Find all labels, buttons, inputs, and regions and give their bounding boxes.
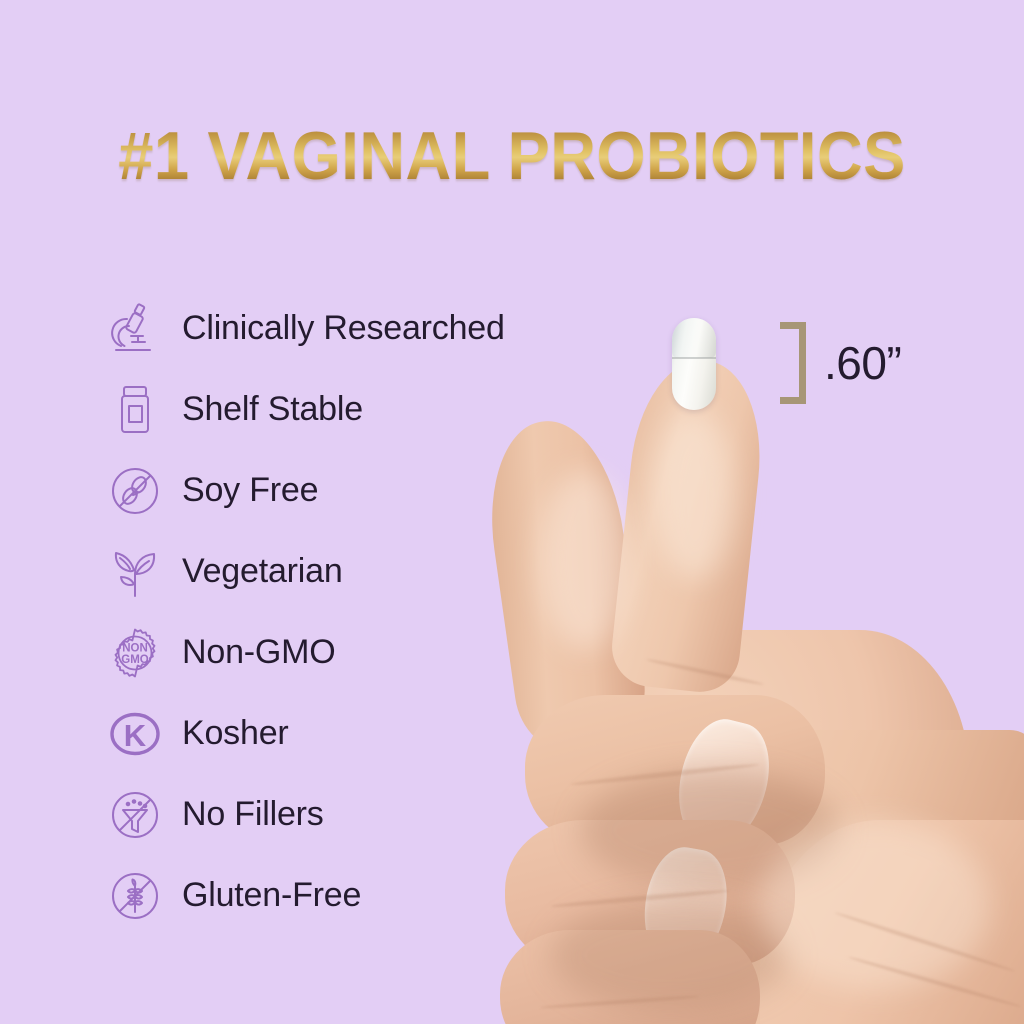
non-gmo-seal-icon: NON GMO: [104, 622, 166, 684]
no-wheat-icon: [104, 865, 166, 927]
capsule-seam: [672, 357, 716, 359]
feature-row-clinically-researched: Clinically Researched: [104, 288, 574, 369]
feature-label: Kosher: [182, 714, 289, 753]
kosher-k-icon: K: [104, 703, 166, 765]
index-highlight: [655, 410, 735, 580]
capsule-size-callout: .60”: [780, 322, 901, 404]
supplement-bottle-icon: [104, 379, 166, 441]
leaf-sprig-icon: [104, 541, 166, 603]
feature-label: Clinically Researched: [182, 309, 505, 348]
page-title: #1 VAGINAL PROBIOTICS: [36, 122, 988, 190]
no-funnel-icon: [104, 784, 166, 846]
feature-row-no-fillers: No Fillers: [104, 774, 574, 855]
non-gmo-line1: NON: [122, 642, 148, 654]
measurement-value: .60”: [824, 340, 901, 386]
feature-label: Non-GMO: [182, 633, 336, 672]
palm-shadow-2: [550, 900, 790, 1010]
product-feature-graphic: #1 VAGINAL PROBIOTICS .60”: [0, 0, 1024, 1024]
feature-label: No Fillers: [182, 795, 324, 834]
feature-label: Gluten-Free: [182, 876, 361, 915]
feature-row-gluten-free: Gluten-Free: [104, 855, 574, 936]
feature-row-soy-free: Soy Free: [104, 450, 574, 531]
microscope-icon: [104, 298, 166, 360]
feature-label: Shelf Stable: [182, 390, 363, 429]
feature-label: Vegetarian: [182, 552, 343, 591]
probiotic-capsule: [672, 318, 716, 410]
non-gmo-line2: GMO: [121, 654, 149, 666]
feature-row-shelf-stable: Shelf Stable: [104, 369, 574, 450]
feature-label: Soy Free: [182, 471, 318, 510]
measurement-bracket-icon: [780, 322, 806, 404]
no-soy-icon: [104, 460, 166, 522]
capsule-cap: [672, 318, 716, 358]
feature-list: Clinically Researched Shelf Stable: [104, 288, 574, 936]
feature-row-kosher: K Kosher: [104, 693, 574, 774]
kosher-letter: K: [124, 718, 147, 753]
feature-row-vegetarian: Vegetarian: [104, 531, 574, 612]
feature-row-non-gmo: NON GMO Non-GMO: [104, 612, 574, 693]
